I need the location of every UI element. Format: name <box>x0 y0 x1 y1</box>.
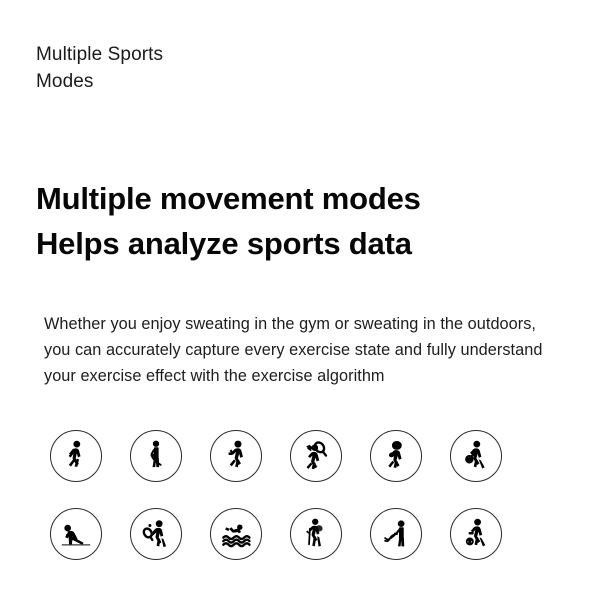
sport-mode-icon-grid <box>50 430 546 560</box>
sport-icon-stretching[interactable] <box>50 508 102 560</box>
sport-icon-dog-walking[interactable] <box>130 430 182 482</box>
swimming-icon <box>217 515 255 553</box>
american-football-icon <box>377 437 415 475</box>
soccer-icon <box>457 515 495 553</box>
badminton-icon <box>297 437 335 475</box>
sport-icon-swimming[interactable] <box>210 508 262 560</box>
body-paragraph: Whether you enjoy sweating in the gym or… <box>44 311 544 389</box>
basketball-icon <box>457 437 495 475</box>
walking-icon <box>57 437 95 475</box>
stretching-icon <box>57 515 95 553</box>
sport-icon-running[interactable] <box>210 430 262 482</box>
sport-icon-tennis[interactable] <box>130 508 182 560</box>
sports-modes-promo-page: Multiple Sports Modes Multiple movement … <box>0 0 600 600</box>
dog-walking-icon <box>137 437 175 475</box>
sport-icon-basketball[interactable] <box>450 430 502 482</box>
tennis-icon <box>137 515 175 553</box>
eyebrow-label: Multiple Sports Modes <box>36 41 266 95</box>
sport-icon-badminton[interactable] <box>290 430 342 482</box>
hiking-icon <box>297 515 335 553</box>
sport-icon-hiking[interactable] <box>290 508 342 560</box>
sport-icon-soccer[interactable] <box>450 508 502 560</box>
sport-icon-battle-rope[interactable] <box>370 508 422 560</box>
sport-icon-walking[interactable] <box>50 430 102 482</box>
page-title: Multiple movement modes Helps analyze sp… <box>36 176 576 266</box>
sport-icon-american-football[interactable] <box>370 430 422 482</box>
running-icon <box>217 437 255 475</box>
battle-rope-icon <box>377 515 415 553</box>
